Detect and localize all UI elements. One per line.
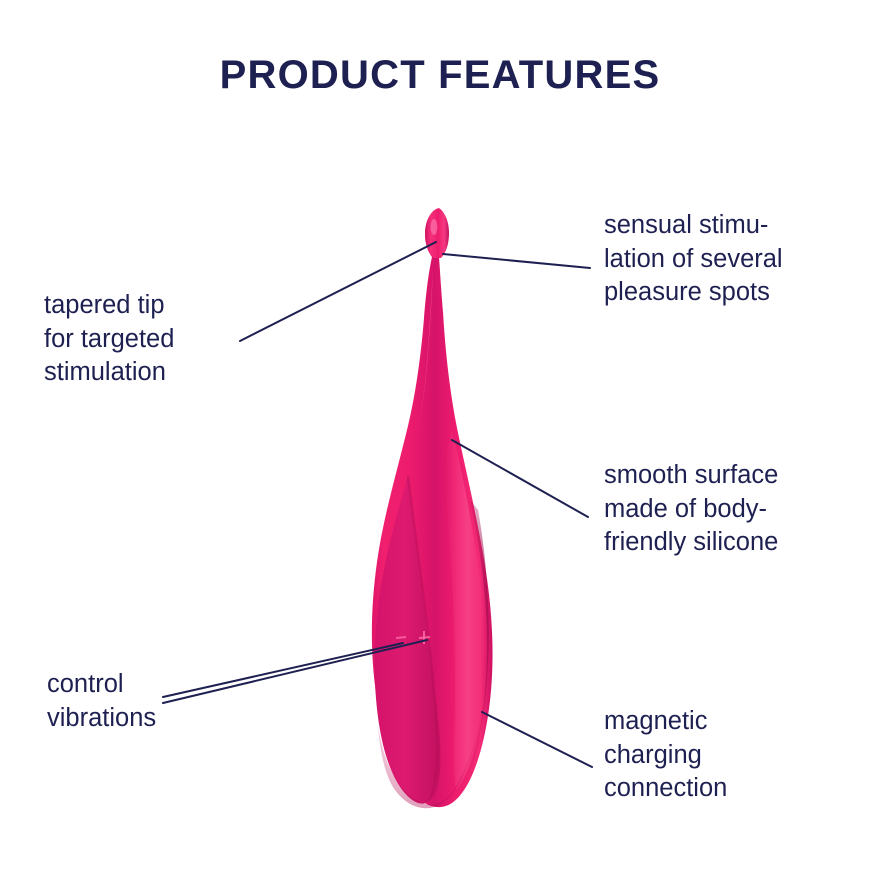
callout-magnetic-charging: magnetic charging connection	[604, 705, 834, 806]
callout-smooth-surface: smooth surface made of body- friendly si…	[604, 459, 854, 560]
leader-line-sensual	[443, 254, 590, 268]
product-body-group	[372, 208, 493, 808]
product-features-infographic: PRODUCT FEATURES	[0, 0, 880, 880]
callout-control-vibrations: control vibrations	[47, 668, 267, 735]
minus-marker[interactable]	[396, 637, 406, 638]
callout-sensual-stimulation: sensual stimu- lation of several pleasur…	[604, 209, 854, 310]
product-tip	[425, 208, 449, 258]
leader-line-magnetic	[482, 712, 592, 767]
callout-tapered-tip: tapered tip for targeted stimulation	[44, 289, 274, 390]
product-tip-highlight	[431, 219, 438, 235]
